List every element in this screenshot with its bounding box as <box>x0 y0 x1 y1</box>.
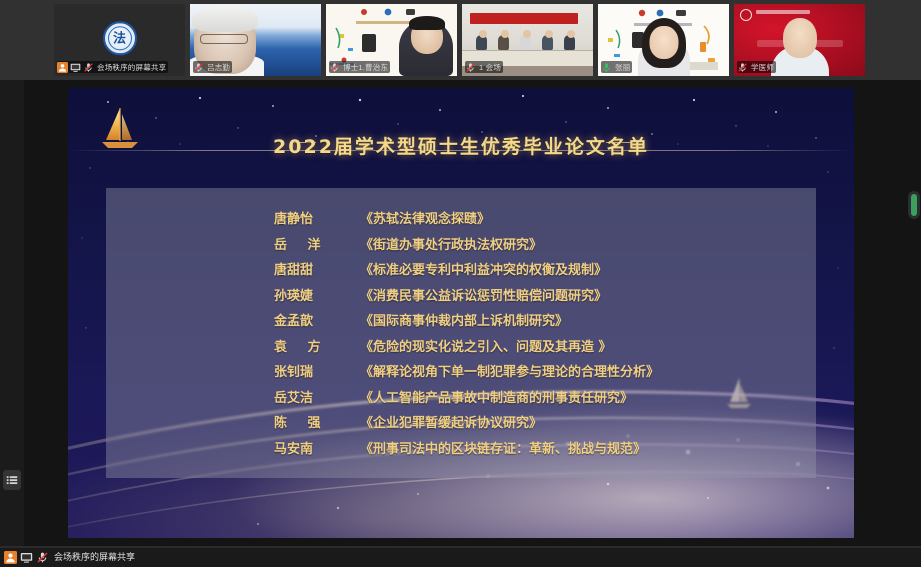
video-tile-1[interactable]: 法 会场秩序的屏幕共享 <box>54 4 185 76</box>
mic-muted-icon <box>465 62 476 73</box>
thesis-title: 《人工智能产品事故中制造商的刑事责任研究》 <box>360 387 633 406</box>
mic-muted-icon <box>329 62 340 73</box>
tile-3-person-hair <box>409 16 445 30</box>
thesis-title: 《国际商事仲裁内部上诉机制研究》 <box>360 310 568 329</box>
mic-muted-icon <box>193 62 204 73</box>
zoom-meeting-window: 法 会场秩序的屏幕共享 <box>0 0 921 567</box>
tile-2-nameplate: 吕志勤 <box>193 61 232 73</box>
tile-6-institution-name <box>756 10 810 14</box>
thesis-title: 《企业犯罪暂缓起诉协议研究》 <box>360 412 542 431</box>
slide-title: 2022届学术型硕士生优秀毕业论文名单 <box>68 132 854 159</box>
list-item: 唐静怡 《苏轼法律观念探赜》 <box>274 208 806 234</box>
thesis-title: 《危险的现实化说之引入、问题及其再造 》 <box>360 336 612 355</box>
tile-2-person-hair <box>192 6 258 32</box>
status-bar: 会场秩序的屏幕共享 <box>0 548 921 567</box>
thesis-title: 《标准必要专利中利益冲突的权衡及规制》 <box>360 259 607 278</box>
list-item: 袁 方 《危险的现实化说之引入、问题及其再造 》 <box>274 336 806 362</box>
host-badge-icon <box>57 62 68 73</box>
list-item: 金孟歆 《国际商事仲裁内部上诉机制研究》 <box>274 310 806 336</box>
student-name: 陈 强 <box>274 412 360 431</box>
student-name: 袁 方 <box>274 336 360 355</box>
student-name: 岳艾洁 <box>274 387 360 406</box>
tile-6-institution-logo <box>740 9 752 21</box>
video-tile-3[interactable]: 博士1.曹治东 <box>326 4 457 76</box>
tile-4-wall-banner <box>470 13 578 24</box>
student-name: 唐静怡 <box>274 208 360 227</box>
student-name: 金孟歆 <box>274 310 360 329</box>
tile-6-nameplate: 学医师 <box>737 61 776 73</box>
thesis-title: 《苏轼法律观念探赜》 <box>360 208 490 227</box>
shared-screen-stage: 2022届学术型硕士生优秀毕业论文名单 唐静怡 《苏轼法律观念探赜》 岳 洋 《… <box>0 80 921 548</box>
mic-muted-icon <box>83 62 94 73</box>
student-name: 唐甜甜 <box>274 259 360 278</box>
tile-2-participant-name: 吕志勤 <box>206 62 230 73</box>
list-item: 岳 洋 《街道办事处行政执法权研究》 <box>274 234 806 260</box>
tile-4-person-head <box>479 30 487 38</box>
tile-1-participant-name: 会场秩序的屏幕共享 <box>96 62 166 73</box>
thesis-list: 唐静怡 《苏轼法律观念探赜》 岳 洋 《街道办事处行政执法权研究》 唐甜甜 《标… <box>274 208 806 463</box>
thesis-title: 《消费民事公益诉讼惩罚性赔偿问题研究》 <box>360 285 607 304</box>
host-badge-icon <box>4 551 17 564</box>
slide-content-panel: 唐静怡 《苏轼法律观念探赜》 岳 洋 《街道办事处行政执法权研究》 唐甜甜 《标… <box>106 188 816 478</box>
tile-2-person-glasses <box>200 34 248 44</box>
list-item: 唐甜甜 《标准必要专利中利益冲突的权衡及规制》 <box>274 259 806 285</box>
status-bar-label: 会场秩序的屏幕共享 <box>52 548 135 567</box>
tile-1-nameplate: 会场秩序的屏幕共享 <box>57 61 168 73</box>
student-name: 孙瑛婕 <box>274 285 360 304</box>
tile-5-participant-name: 张丽 <box>614 62 630 73</box>
presentation-slide: 2022届学术型硕士生优秀毕业论文名单 唐静怡 《苏轼法律观念探赜》 岳 洋 《… <box>68 88 854 538</box>
thesis-title: 《街道办事处行政执法权研究》 <box>360 234 542 253</box>
student-name: 张钊瑞 <box>274 361 360 380</box>
video-tile-6[interactable]: 学医师 <box>734 4 865 76</box>
tile-3-nameplate: 博士1.曹治东 <box>329 61 390 73</box>
tile-6-participant-name: 学医师 <box>750 62 774 73</box>
list-view-icon <box>6 474 18 486</box>
video-tile-2[interactable]: 吕志勤 <box>190 4 321 76</box>
screen-share-icon <box>20 551 33 564</box>
tile-3-participant-name: 博士1.曹治东 <box>342 62 388 73</box>
tile-4-person-head <box>523 30 531 38</box>
tile-5-person-face <box>649 26 678 59</box>
participant-filmstrip: 法 会场秩序的屏幕共享 <box>0 0 921 80</box>
tile-4-person-head <box>501 30 509 38</box>
list-item: 岳艾洁 《人工智能产品事故中制造商的刑事责任研究》 <box>274 387 806 413</box>
list-item: 孙瑛婕 《消费民事公益诉讼惩罚性赔偿问题研究》 <box>274 285 806 311</box>
university-crest-logo: 法 <box>103 21 137 55</box>
list-view-button[interactable] <box>3 470 21 490</box>
list-item: 陈 强 《企业犯罪暂缓起诉协议研究》 <box>274 412 806 438</box>
list-item: 张钊瑞 《解释论视角下单一制犯罪参与理论的合理性分析》 <box>274 361 806 387</box>
student-name: 马安南 <box>274 438 360 457</box>
tile-4-participant-name: 1 会场 <box>478 62 501 73</box>
left-rail <box>0 80 24 548</box>
tile-5-nameplate: 张丽 <box>601 61 632 73</box>
thesis-title: 《刑事司法中的区块链存证：革新、挑战与规范》 <box>360 438 646 457</box>
mic-unmuted-icon <box>601 62 612 73</box>
mic-muted-icon <box>737 62 748 73</box>
list-item: 马安南 《刑事司法中的区块链存证：革新、挑战与规范》 <box>274 438 806 464</box>
screen-share-indicator <box>911 194 917 216</box>
student-name: 岳 洋 <box>274 234 360 253</box>
video-tile-5[interactable]: 张丽 <box>598 4 729 76</box>
tile-4-person-head <box>567 30 575 38</box>
thesis-title: 《解释论视角下单一制犯罪参与理论的合理性分析》 <box>360 361 659 380</box>
mic-muted-icon <box>36 551 49 564</box>
screen-share-icon <box>70 62 81 73</box>
tile-4-person-head <box>545 30 553 38</box>
video-tile-4[interactable]: 1 会场 <box>462 4 593 76</box>
tile-4-nameplate: 1 会场 <box>465 61 503 73</box>
tile-6-person-head <box>783 18 817 58</box>
